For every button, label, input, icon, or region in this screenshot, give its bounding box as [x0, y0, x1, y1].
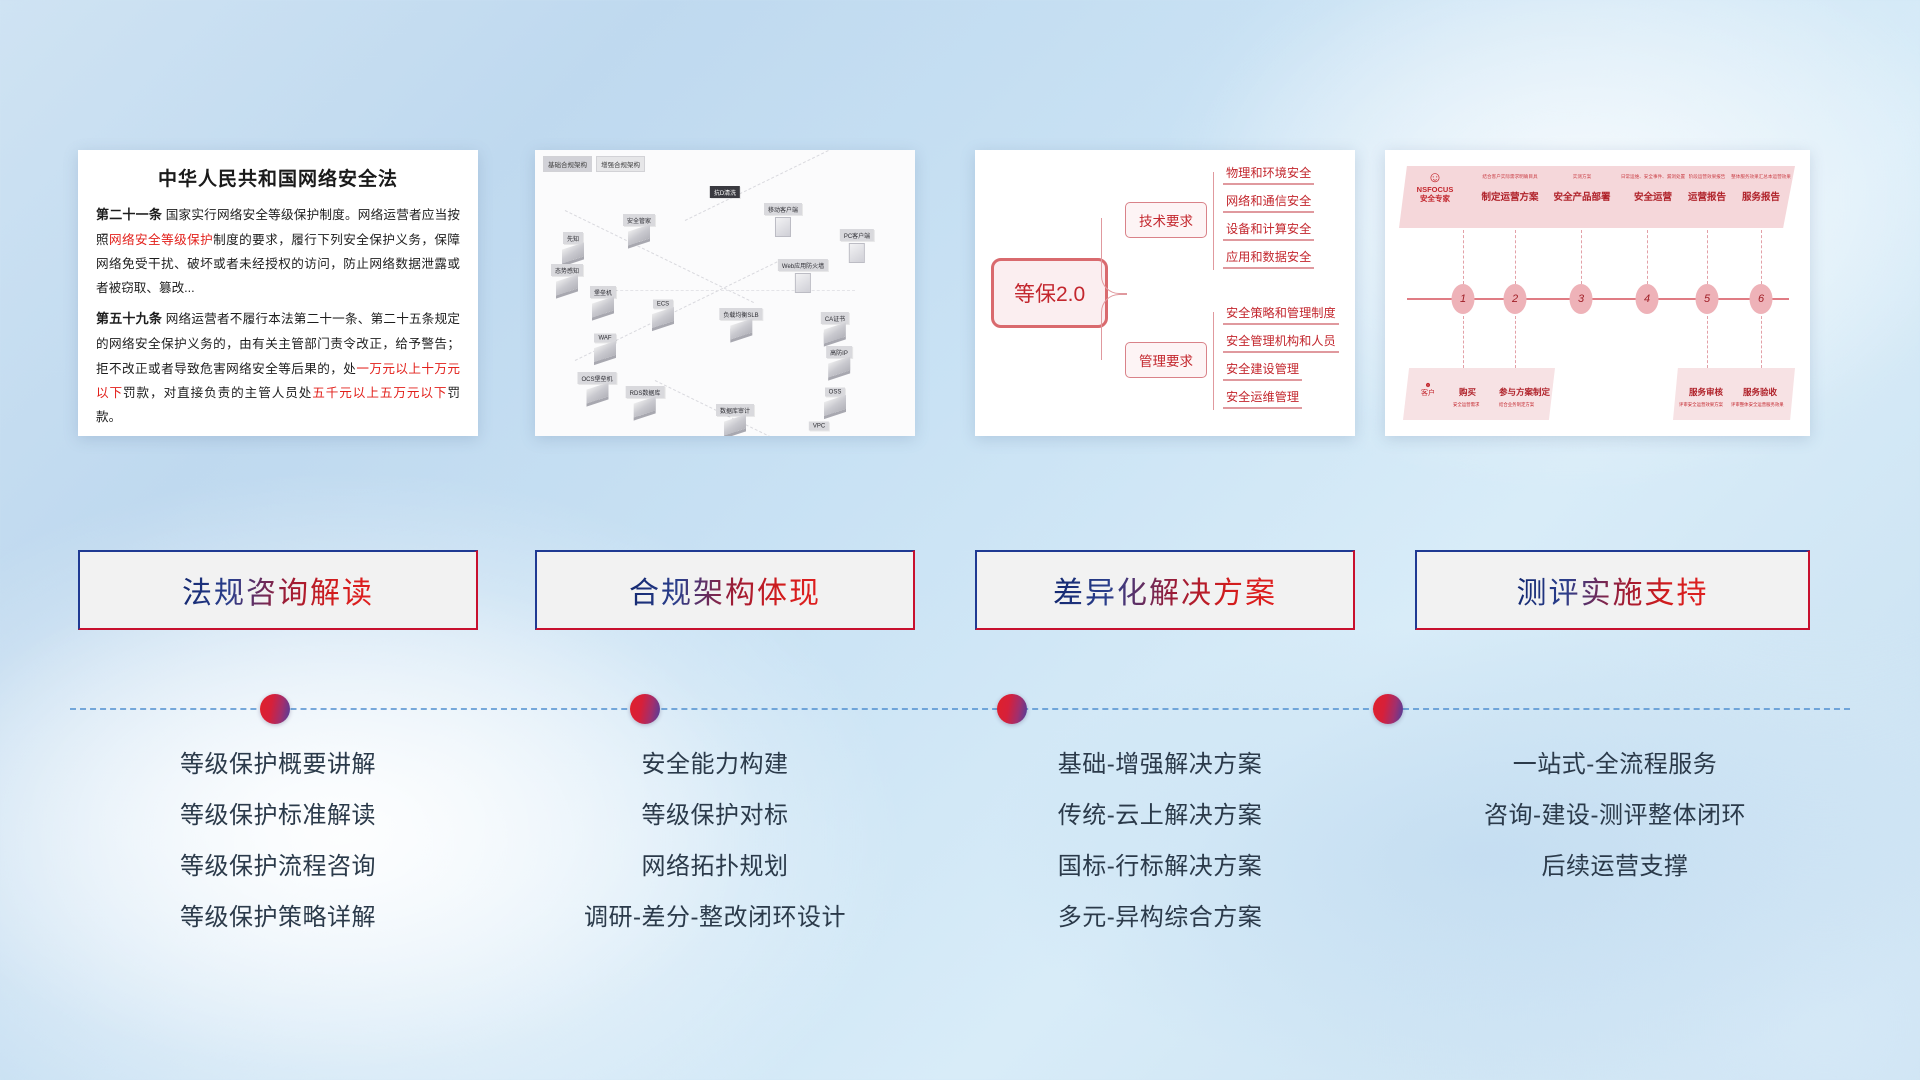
arch-node[interactable]: 移动客户端 — [764, 203, 802, 237]
nsfocus-step-number[interactable]: 1 — [1452, 284, 1475, 314]
tile-sub: 评审安全运营效果方案 — [1679, 402, 1723, 408]
nsfocus-dash — [1515, 316, 1516, 368]
nsfocus-dash — [1761, 230, 1762, 284]
article-21-label: 第二十一条 — [96, 207, 162, 222]
cube-icon — [562, 242, 584, 263]
arch-node[interactable]: RDS数据库 — [626, 386, 665, 414]
title-box-4[interactable]: 测评实施支持 — [1415, 550, 1810, 630]
card-nsfocus-process[interactable]: ☺ NSFOCUS 安全专家 结合客户实际需求明确目具 制定运营方案 实测方案 … — [1385, 150, 1810, 436]
mindmap-root: 等保2.0 — [991, 258, 1108, 328]
cube-icon — [824, 322, 846, 343]
nsfocus-step-sub: 结合客户实际需求明确目具 — [1471, 174, 1549, 180]
list-item: 后续运营支撑 — [1390, 842, 1840, 893]
arch-node-label: 数据库审计 — [716, 404, 754, 416]
nsfocus-brand: NSFOCUS — [1409, 185, 1461, 194]
arch-node[interactable]: ECS — [652, 300, 674, 325]
list-item: 多元-异构综合方案 — [950, 893, 1370, 944]
tile-title: 购买 — [1459, 386, 1476, 398]
title-label: 测评实施支持 — [1517, 568, 1709, 612]
tile-title: 服务审核 — [1689, 386, 1723, 398]
list-item: 等级保护策略详解 — [78, 893, 478, 944]
timeline-dot-2[interactable] — [630, 694, 660, 724]
arch-node-label: 移动客户端 — [764, 203, 802, 215]
title-box-3[interactable]: 差异化解决方案 — [975, 550, 1355, 630]
arch-node-label: 安全管家 — [623, 214, 655, 226]
arch-node-label: 态势感知 — [551, 264, 583, 276]
nsfocus-dash — [1463, 230, 1464, 284]
nsfocus-step[interactable]: 结合客户实际需求明确目具 制定运营方案 — [1471, 174, 1549, 203]
list-item: 等级保护对标 — [495, 791, 935, 842]
arch-node-label: Web应用防火墙 — [778, 259, 828, 271]
arch-node-label: 负载均衡SLB — [719, 308, 762, 320]
arch-node-label: PC客户端 — [840, 229, 874, 241]
nsfocus-step-number[interactable]: 2 — [1504, 284, 1527, 314]
list-item: 基础-增强解决方案 — [950, 740, 1370, 791]
nsfocus-step-number[interactable]: 4 — [1636, 284, 1659, 314]
document-icon — [795, 273, 811, 293]
card-architecture-diagram[interactable]: 基础合规架构 增强合规架构 先知 态势感知 安全管家 抗D清洗 — [535, 150, 915, 436]
nsfocus-customer-tile[interactable]: 服务审核 评审安全运营效果方案 服务验收 评审整体安全运营服务效果 — [1673, 368, 1795, 420]
list-item: 等级保护流程咨询 — [78, 842, 478, 893]
arch-node[interactable]: VPC — [809, 422, 829, 431]
article-59-label: 第五十九条 — [96, 311, 162, 326]
detail-column-3: 基础-增强解决方案 传统-云上解决方案 国标-行标解决方案 多元-异构综合方案 — [950, 740, 1370, 944]
preview-cards-row: 中华人民共和国网络安全法 第二十一条 国家实行网络安全等级保护制度。网络运营者应… — [0, 150, 1920, 440]
arch-node[interactable]: 堡垒机 — [590, 286, 616, 314]
nsfocus-dash — [1761, 316, 1762, 368]
nsfocus-step-number[interactable]: 6 — [1750, 284, 1773, 314]
customer-label: 客户 — [1411, 390, 1445, 398]
nsfocus-dash — [1647, 230, 1648, 284]
document-icon — [849, 243, 865, 263]
mindmap-connector — [1213, 172, 1214, 270]
section-title-row: 法规咨询解读 合规架构体现 差异化解决方案 测评实施支持 — [0, 550, 1920, 630]
nsfocus-step[interactable]: 整体服务效果汇总本运营效果 服务报告 — [1725, 174, 1797, 203]
mindmap-connector — [1101, 294, 1127, 360]
timeline-dashed-line — [70, 708, 1850, 710]
list-item: 等级保护概要讲解 — [78, 740, 478, 791]
cube-icon — [628, 224, 650, 245]
nsfocus-step-number[interactable]: 5 — [1696, 284, 1719, 314]
mindmap-leaf: 安全运维管理 — [1223, 386, 1302, 409]
law-article-59: 第五十九条 网络运营者不履行本法第二十一条、第二十五条规定的网络安全保护义务的，… — [96, 307, 460, 429]
mindmap-connector — [1213, 312, 1214, 410]
person-icon: ☺ — [1409, 170, 1461, 185]
nsfocus-dash — [1707, 230, 1708, 284]
cube-icon — [592, 296, 614, 317]
list-item: 一站式-全流程服务 — [1390, 740, 1840, 791]
list-item: 安全能力构建 — [495, 740, 935, 791]
tile-title: 参与方案制定 — [1499, 386, 1550, 398]
cube-icon — [828, 356, 850, 377]
list-item: 等级保护标准解读 — [78, 791, 478, 842]
timeline-dot-4[interactable] — [1373, 694, 1403, 724]
card-mindmap[interactable]: 等保2.0 技术要求 管理要求 物理和环境安全 网络和通信安全 设备和计算安全 … — [975, 150, 1355, 436]
article-21-highlight: 网络安全等级保护 — [109, 233, 213, 247]
title-box-2[interactable]: 合规架构体现 — [535, 550, 915, 630]
mindmap-leaf: 应用和数据安全 — [1223, 246, 1314, 269]
list-item: 咨询-建设-测评整体闭环 — [1390, 791, 1840, 842]
architecture-tabs: 基础合规架构 增强合规架构 — [543, 156, 645, 172]
list-item: 网络拓扑规划 — [495, 842, 935, 893]
list-item: 调研-差分-整改闭环设计 — [495, 893, 935, 944]
nsfocus-step-main: 服务报告 — [1725, 189, 1797, 203]
arch-node-label: VPC — [809, 422, 829, 431]
nsfocus-dash — [1515, 230, 1516, 284]
cube-icon — [824, 395, 846, 416]
detail-column-1: 等级保护概要讲解 等级保护标准解读 等级保护流程咨询 等级保护策略详解 — [78, 740, 478, 944]
cube-icon — [724, 414, 746, 435]
arch-node-label: RDS数据库 — [626, 386, 665, 398]
card-law-text[interactable]: 中华人民共和国网络安全法 第二十一条 国家实行网络安全等级保护制度。网络运营者应… — [78, 150, 478, 436]
nsfocus-step-main: 制定运营方案 — [1471, 189, 1549, 203]
mindmap-leaf: 安全建设管理 — [1223, 358, 1302, 381]
arch-node[interactable]: OCS堡垒机 — [577, 372, 616, 400]
tile-sub: 结合业务制定方案 — [1499, 402, 1534, 408]
detail-lists-row: 等级保护概要讲解 等级保护标准解读 等级保护流程咨询 等级保护策略详解 安全能力… — [0, 740, 1920, 1040]
arch-node[interactable]: 安全管家 — [623, 214, 655, 242]
nsfocus-step-sub: 整体服务效果汇总本运营效果 — [1725, 174, 1797, 180]
arch-node[interactable]: CA证书 — [821, 312, 849, 340]
list-item: 国标-行标解决方案 — [950, 842, 1370, 893]
nsfocus-dash — [1707, 316, 1708, 368]
mindmap-leaf: 物理和环境安全 — [1223, 162, 1314, 185]
tile-sub: 安全运营需求 — [1453, 402, 1479, 408]
cube-icon — [594, 341, 616, 362]
arch-node[interactable]: 先知 — [562, 232, 584, 260]
nsfocus-step-sub: 实测方案 — [1543, 174, 1621, 180]
detail-column-2: 安全能力构建 等级保护对标 网络拓扑规划 调研-差分-整改闭环设计 — [495, 740, 935, 944]
arch-tab-enhanced[interactable]: 增强合规架构 — [596, 156, 645, 172]
arch-node[interactable]: 数据库审计 — [716, 404, 754, 432]
timeline-dot-3[interactable] — [997, 694, 1027, 724]
nsfocus-customer-block: ☻ 客户 — [1411, 382, 1445, 399]
architecture-canvas: 基础合规架构 增强合规架构 先知 态势感知 安全管家 抗D清洗 — [535, 150, 915, 436]
nsfocus-dash — [1463, 316, 1464, 368]
arch-node[interactable]: Web应用防火墙 — [778, 259, 828, 293]
nsfocus-step[interactable]: 实测方案 安全产品部署 — [1543, 174, 1621, 203]
mindmap-leaf: 设备和计算安全 — [1223, 218, 1314, 241]
document-icon — [775, 217, 791, 237]
mindmap-leaf: 安全策略和管理制度 — [1223, 302, 1339, 325]
title-label: 法规咨询解读 — [182, 568, 374, 612]
nsfocus-role: 安全专家 — [1409, 194, 1461, 203]
arch-tab-basic[interactable]: 基础合规架构 — [543, 156, 592, 172]
title-box-1[interactable]: 法规咨询解读 — [78, 550, 478, 630]
title-label: 差异化解决方案 — [1053, 568, 1277, 612]
arch-node[interactable]: 态势感知 — [551, 264, 583, 292]
tile-title: 服务验收 — [1743, 386, 1777, 398]
timeline — [0, 694, 1920, 724]
detail-column-4: 一站式-全流程服务 咨询-建设-测评整体闭环 后续运营支撑 — [1390, 740, 1840, 893]
arch-node[interactable]: 抗D清洗 — [710, 186, 740, 198]
timeline-dot-1[interactable] — [260, 694, 290, 724]
arch-node[interactable]: OSS — [824, 388, 846, 413]
article-59-highlight-2: 五千元以上五万元以下 — [312, 386, 447, 400]
law-article-21: 第二十一条 国家实行网络安全等级保护制度。网络运营者应当按照网络安全等级保护制度… — [96, 203, 460, 300]
nsfocus-dash — [1581, 230, 1582, 284]
title-label: 合规架构体现 — [629, 568, 821, 612]
cube-icon — [652, 307, 674, 328]
article-59-text-b: 罚款，对直接负责的主管人员处 — [123, 386, 312, 400]
law-body: 中华人民共和国网络安全法 第二十一条 国家实行网络安全等级保护制度。网络运营者应… — [78, 150, 478, 436]
nsfocus-step-number[interactable]: 3 — [1570, 284, 1593, 314]
mindmap-leaf: 安全管理机构和人员 — [1223, 330, 1339, 353]
mindmap-leaf: 网络和通信安全 — [1223, 190, 1314, 213]
mindmap-branch-tech[interactable]: 技术要求 — [1125, 202, 1207, 238]
cube-icon — [556, 274, 578, 295]
arch-node-label: OCS堡垒机 — [577, 372, 616, 384]
mindmap-connector — [1101, 218, 1127, 294]
arch-node-label: 先知 — [563, 232, 583, 244]
mindmap-canvas: 等保2.0 技术要求 管理要求 物理和环境安全 网络和通信安全 设备和计算安全 … — [975, 150, 1355, 436]
list-item: 传统-云上解决方案 — [950, 791, 1370, 842]
arch-node-label: 抗D清洗 — [710, 186, 740, 198]
arch-node[interactable]: 负载均衡SLB — [719, 308, 762, 336]
nsfocus-expert-block: ☺ NSFOCUS 安全专家 — [1409, 170, 1461, 204]
arch-node[interactable]: WAF — [594, 334, 616, 359]
tile-sub: 评审整体安全运营服务效果 — [1731, 402, 1784, 408]
law-title: 中华人民共和国网络安全法 — [96, 164, 460, 191]
cube-icon — [634, 396, 656, 417]
cube-icon — [586, 382, 608, 403]
nsfocus-step-main: 安全产品部署 — [1543, 189, 1621, 203]
arch-node[interactable]: PC客户端 — [840, 229, 874, 263]
arch-node[interactable]: 高防IP — [826, 346, 852, 374]
nsfocus-canvas: ☺ NSFOCUS 安全专家 结合客户实际需求明确目具 制定运营方案 实测方案 … — [1385, 150, 1810, 436]
cube-icon — [730, 318, 752, 339]
mindmap-branch-mgmt[interactable]: 管理要求 — [1125, 342, 1207, 378]
